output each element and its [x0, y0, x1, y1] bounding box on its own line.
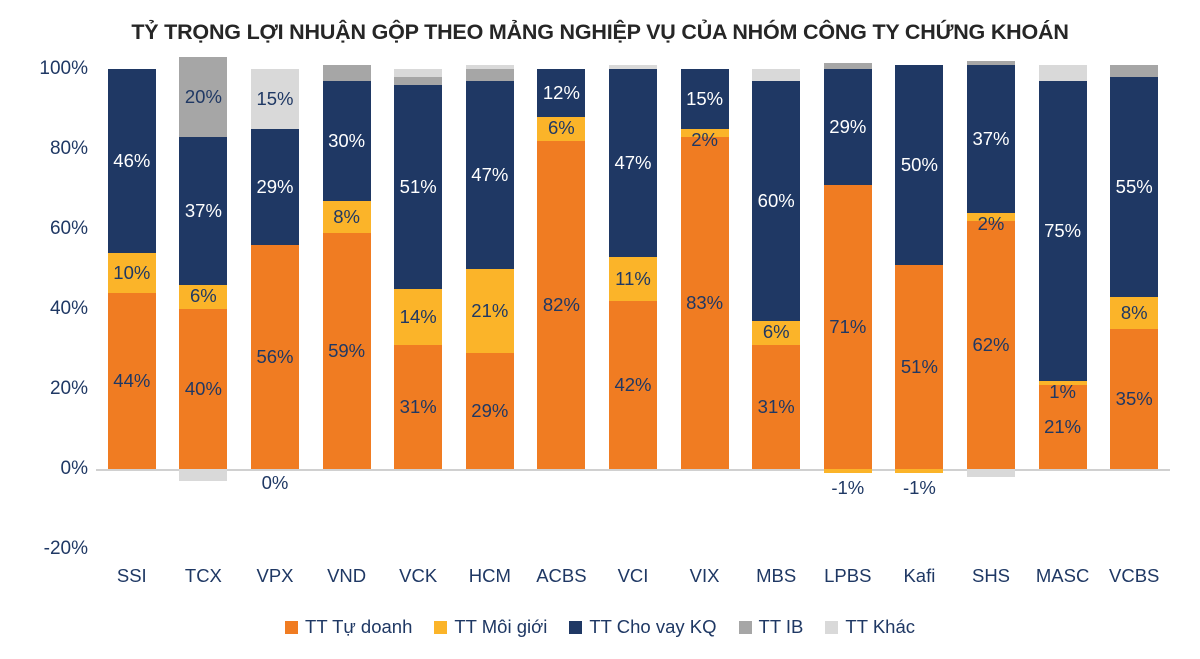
- chart-legend: TT Tự doanhTT Môi giớiTT Cho vay KQTT IB…: [0, 616, 1200, 638]
- bar-segment-hcm-s4[interactable]: [466, 65, 514, 69]
- legend-item-4[interactable]: TT Khác: [825, 616, 915, 638]
- bar-segment-tcx-s0[interactable]: [179, 309, 227, 469]
- bar-group-shs[interactable]: 62%2%37%: [967, 69, 1015, 549]
- y-axis-tick-label: 40%: [14, 298, 88, 320]
- legend-swatch-icon: [739, 621, 752, 634]
- legend-swatch-icon: [569, 621, 582, 634]
- bar-segment-vpx-s2[interactable]: [251, 129, 299, 245]
- bar-segment-tcx-s4[interactable]: [179, 469, 227, 481]
- bar-segment-tcx-s2[interactable]: [179, 137, 227, 285]
- x-axis-tick-label: VND: [327, 565, 366, 587]
- bar-segment-hcm-s1[interactable]: [466, 269, 514, 353]
- bar-segment-ssi-s0[interactable]: [108, 293, 156, 469]
- bar-group-hcm[interactable]: 29%21%47%: [466, 69, 514, 549]
- bar-segment-vpx-s4[interactable]: [251, 69, 299, 129]
- bar-segment-tcx-s3[interactable]: [179, 57, 227, 137]
- bar-segment-vnd-s0[interactable]: [323, 233, 371, 469]
- legend-label: TT IB: [759, 616, 804, 638]
- bar-segment-mbs-s1[interactable]: [752, 321, 800, 345]
- bar-segment-label: 0%: [262, 472, 289, 494]
- x-axis-tick-label: VCI: [618, 565, 649, 587]
- bar-segment-lpbs-s1[interactable]: [824, 469, 872, 473]
- bar-segment-mbs-s0[interactable]: [752, 345, 800, 469]
- bar-segment-vck-s0[interactable]: [394, 345, 442, 469]
- legend-label: TT Tự doanh: [305, 616, 412, 638]
- bar-segment-label: -1%: [903, 477, 936, 499]
- bar-segment-vck-s1[interactable]: [394, 289, 442, 345]
- y-axis-tick-label: 60%: [14, 218, 88, 240]
- bar-group-vix[interactable]: 83%2%15%: [681, 69, 729, 549]
- bar-segment-vcbs-s0[interactable]: [1110, 329, 1158, 469]
- bar-segment-shs-s0[interactable]: [967, 221, 1015, 469]
- x-axis-tick-label: LPBS: [824, 565, 871, 587]
- bar-segment-vcbs-s2[interactable]: [1110, 77, 1158, 297]
- x-axis-tick-label: HCM: [469, 565, 511, 587]
- bar-segment-vci-s2[interactable]: [609, 69, 657, 257]
- x-axis-tick-label: VPX: [256, 565, 293, 587]
- legend-item-0[interactable]: TT Tự doanh: [285, 616, 412, 638]
- x-axis-tick-label: SHS: [972, 565, 1010, 587]
- bar-segment-vix-s0[interactable]: [681, 137, 729, 469]
- legend-item-3[interactable]: TT IB: [739, 616, 804, 638]
- bar-segment-acbs-s0[interactable]: [537, 141, 585, 469]
- bar-group-acbs[interactable]: 82%6%12%: [537, 69, 585, 549]
- bar-segment-lpbs-s0[interactable]: [824, 185, 872, 469]
- bar-segment-hcm-s0[interactable]: [466, 353, 514, 469]
- bar-segment-masc-s2[interactable]: [1039, 81, 1087, 381]
- bar-segment-vnd-s1[interactable]: [323, 201, 371, 233]
- bar-segment-tcx-s1[interactable]: [179, 285, 227, 309]
- bar-group-tcx[interactable]: 40%6%37%20%: [179, 69, 227, 549]
- bar-segment-kafi-s1[interactable]: [895, 469, 943, 473]
- legend-swatch-icon: [285, 621, 298, 634]
- bar-segment-vcbs-s1[interactable]: [1110, 297, 1158, 329]
- y-axis-tick-label: 100%: [14, 58, 88, 80]
- x-axis-tick-label: TCX: [185, 565, 222, 587]
- legend-label: TT Khác: [845, 616, 915, 638]
- bar-segment-ssi-s1[interactable]: [108, 253, 156, 293]
- chart-container: TỶ TRỌNG LỢI NHUẬN GỘP THEO MẢNG NGHIỆP …: [0, 0, 1200, 659]
- x-axis-tick-label: SSI: [117, 565, 147, 587]
- bar-segment-lpbs-s3[interactable]: [824, 63, 872, 69]
- bar-group-mbs[interactable]: 31%6%60%: [752, 69, 800, 549]
- bar-group-lpbs[interactable]: 71%-1%29%: [824, 69, 872, 549]
- legend-item-2[interactable]: TT Cho vay KQ: [569, 616, 716, 638]
- bar-segment-vix-s1[interactable]: [681, 129, 729, 137]
- bar-segment-kafi-s0[interactable]: [895, 265, 943, 469]
- chart-title: TỶ TRỌNG LỢI NHUẬN GỘP THEO MẢNG NGHIỆP …: [0, 20, 1200, 45]
- legend-swatch-icon: [434, 621, 447, 634]
- bar-segment-masc-s0[interactable]: [1039, 385, 1087, 469]
- bar-group-vnd[interactable]: 59%8%30%: [323, 69, 371, 549]
- bar-segment-vnd-s3[interactable]: [323, 65, 371, 81]
- bar-group-vpx[interactable]: 56%29%15%0%: [251, 69, 299, 549]
- legend-swatch-icon: [825, 621, 838, 634]
- legend-item-1[interactable]: TT Môi giới: [434, 616, 547, 638]
- y-axis-tick-label: -20%: [14, 538, 88, 560]
- bar-segment-lpbs-s2[interactable]: [824, 69, 872, 185]
- bar-segment-hcm-s2[interactable]: [466, 81, 514, 269]
- x-axis-tick-label: Kafi: [903, 565, 935, 587]
- x-axis-tick-label: VCBS: [1109, 565, 1159, 587]
- bar-segment-vcbs-s3[interactable]: [1110, 65, 1158, 77]
- x-axis-tick-label: VCK: [399, 565, 437, 587]
- bar-segment-vix-s2[interactable]: [681, 69, 729, 129]
- bar-segment-vck-s3[interactable]: [394, 77, 442, 85]
- bar-segment-vci-s0[interactable]: [609, 301, 657, 469]
- bar-group-masc[interactable]: 21%1%75%: [1039, 69, 1087, 549]
- x-axis-tick-label: VIX: [690, 565, 720, 587]
- bar-group-kafi[interactable]: 51%-1%50%: [895, 69, 943, 549]
- bar-segment-vci-s1[interactable]: [609, 257, 657, 301]
- bar-segment-masc-s4[interactable]: [1039, 65, 1087, 81]
- bar-segment-shs-s3[interactable]: [967, 61, 1015, 65]
- bar-group-vck[interactable]: 31%14%51%: [394, 69, 442, 549]
- bar-segment-vnd-s2[interactable]: [323, 81, 371, 201]
- bar-segment-shs-s1[interactable]: [967, 213, 1015, 221]
- bar-segment-shs-s2[interactable]: [967, 65, 1015, 213]
- y-axis-tick-label: 80%: [14, 138, 88, 160]
- y-axis-tick-label: 0%: [14, 458, 88, 480]
- bar-segment-vpx-s0[interactable]: [251, 245, 299, 469]
- bar-segment-mbs-s4[interactable]: [752, 69, 800, 81]
- bar-group-ssi[interactable]: 44%10%46%: [108, 69, 156, 549]
- bar-group-vcbs[interactable]: 35%8%55%: [1110, 69, 1158, 549]
- bar-segment-kafi-s2[interactable]: [895, 65, 943, 265]
- bar-segment-acbs-s2[interactable]: [537, 69, 585, 117]
- legend-label: TT Môi giới: [454, 616, 547, 638]
- bar-segment-acbs-s1[interactable]: [537, 117, 585, 141]
- bar-segment-label: -1%: [831, 477, 864, 499]
- x-axis-tick-label: ACBS: [536, 565, 586, 587]
- y-axis-tick-label: 20%: [14, 378, 88, 400]
- plot-area: 44%10%46%40%6%37%20%56%29%15%0%59%8%30%3…: [96, 69, 1170, 549]
- bar-segment-vck-s4[interactable]: [394, 69, 442, 77]
- bar-segment-masc-s1[interactable]: [1039, 381, 1087, 385]
- legend-label: TT Cho vay KQ: [589, 616, 716, 638]
- bar-segment-vci-s4[interactable]: [609, 65, 657, 69]
- x-axis-tick-label: MASC: [1036, 565, 1089, 587]
- bar-segment-ssi-s2[interactable]: [108, 69, 156, 253]
- bar-group-vci[interactable]: 42%11%47%: [609, 69, 657, 549]
- bar-segment-vck-s2[interactable]: [394, 85, 442, 289]
- bar-segment-hcm-s3[interactable]: [466, 69, 514, 81]
- x-axis-tick-label: MBS: [756, 565, 796, 587]
- bar-segment-mbs-s2[interactable]: [752, 81, 800, 321]
- bar-segment-shs-s4[interactable]: [967, 469, 1015, 477]
